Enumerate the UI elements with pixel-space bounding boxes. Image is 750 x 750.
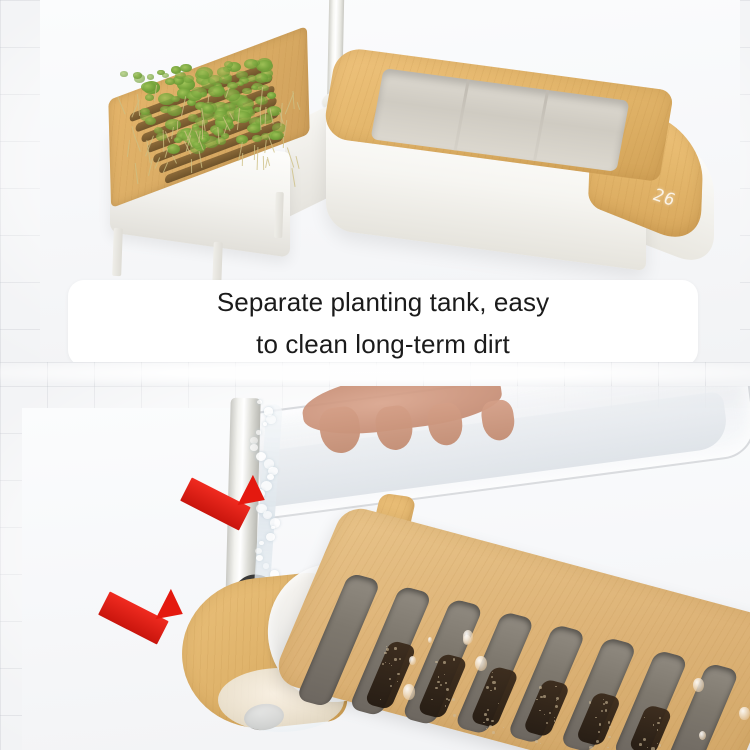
soil-speck [386,648,388,650]
water-droplet [403,684,415,699]
sprout-cluster [133,72,142,78]
water-droplet [250,444,257,451]
soil-speck [487,709,489,711]
soil-speck [435,687,438,690]
sprout-cluster [145,117,156,125]
water-droplet [256,430,261,435]
sprout-cluster [145,94,154,101]
sprout-cluster [202,104,215,113]
water-droplet [266,415,276,424]
soil-speck [486,686,489,689]
sprout-cluster [196,67,213,79]
sprout-cluster [255,73,268,82]
soil-speck [446,698,448,700]
sprout-cluster [247,124,260,134]
sprout-stem [190,159,191,173]
seed-fertilizer-tray [300,558,750,750]
soil-speck [397,681,398,682]
water-droplet [266,533,275,541]
seedling-planting-tank [95,52,335,267]
soil-speck [483,722,484,723]
caption-line-1: Separate planting tank, easy [217,281,549,323]
soil-speck [598,731,600,733]
caption-separate-planting-tank: Separate planting tank, easy to clean lo… [68,280,698,362]
soil-speck [394,658,396,660]
caption-line-2: to clean long-term dirt [256,323,510,362]
soil-speck [431,699,432,700]
tank-leg [274,192,284,238]
sprout-cluster [267,92,277,99]
soil-speck [639,743,642,746]
soil-speck [492,681,495,684]
cavity-divider [533,90,549,161]
sprout-cluster [183,75,194,83]
soil-speck [539,710,541,712]
soil-speck [539,686,542,689]
sprout-cluster [251,85,258,90]
soil-speck [490,690,491,691]
soil-speck [503,727,504,728]
soil-speck [653,724,654,725]
water-droplet [257,400,262,404]
tile-wall-background [0,362,750,386]
soil-speck [549,712,551,714]
glass-pitcher [245,386,750,520]
soil-speck [380,699,381,700]
panel-separator-tile-strip [0,362,750,386]
water-droplet [475,656,487,671]
soil-speck [443,661,445,663]
water-droplet [267,474,274,480]
panel-separate-planting-tank: 26 Separate planting tank, easy to clean… [0,0,750,362]
soil-speck [390,685,392,687]
sprout-cluster [141,82,156,93]
main-growing-unit: 26 [318,62,718,282]
soil-speck [484,713,487,716]
soil-speck [397,673,399,675]
soil-speck [492,731,495,734]
soil-speck [605,701,608,704]
sprout-cluster [165,78,174,85]
soil-speck [555,705,558,708]
soil-speck [589,746,592,749]
water-droplet [693,678,704,692]
sprout-cluster [180,64,192,72]
soil-speck [589,701,592,704]
soil-speck [609,726,611,728]
water-droplet [428,637,432,643]
soil-speck [452,698,455,701]
tank-leg [112,228,123,276]
sprout-cluster [174,137,182,143]
soil-speck [605,709,607,711]
soil-speck [536,699,538,701]
sprout-cluster [167,144,180,153]
water-droplet [699,731,706,740]
soil-speck [535,740,537,742]
panel-fertilizer-cover: Open the fertilizer cover to complete th… [0,386,750,750]
bottom-product-scene [0,386,750,750]
water-droplet [259,541,264,545]
product-infographic-page: 26 Separate planting tank, easy to clean… [0,0,750,750]
sprout-cluster [242,88,251,95]
sprout-cluster [120,71,127,76]
sprout-cluster [147,74,155,80]
soil-speck [657,729,659,731]
soil-speck [446,688,449,691]
cavity-divider [454,79,470,150]
water-droplet [271,526,275,530]
sprout-cluster [156,133,167,141]
soil-speck [445,705,447,707]
sprout-stem [241,153,242,166]
soil-speck [543,695,545,697]
sprout-cluster [252,135,261,142]
sprout-cluster [208,86,224,98]
soil-speck [445,682,446,683]
soil-speck [486,718,489,721]
soil-speck [394,647,397,650]
sprout-cluster [167,105,182,116]
soil-speck [453,658,456,661]
sprout-cluster [219,75,232,84]
soil-speck [491,720,493,722]
water-droplet [739,707,749,721]
sprout-cluster [244,59,258,69]
sprout-cluster [234,111,251,123]
sprout-stem [283,137,284,148]
soil-speck [659,717,661,719]
soil-speck [444,674,445,675]
soil-speck [453,714,456,717]
